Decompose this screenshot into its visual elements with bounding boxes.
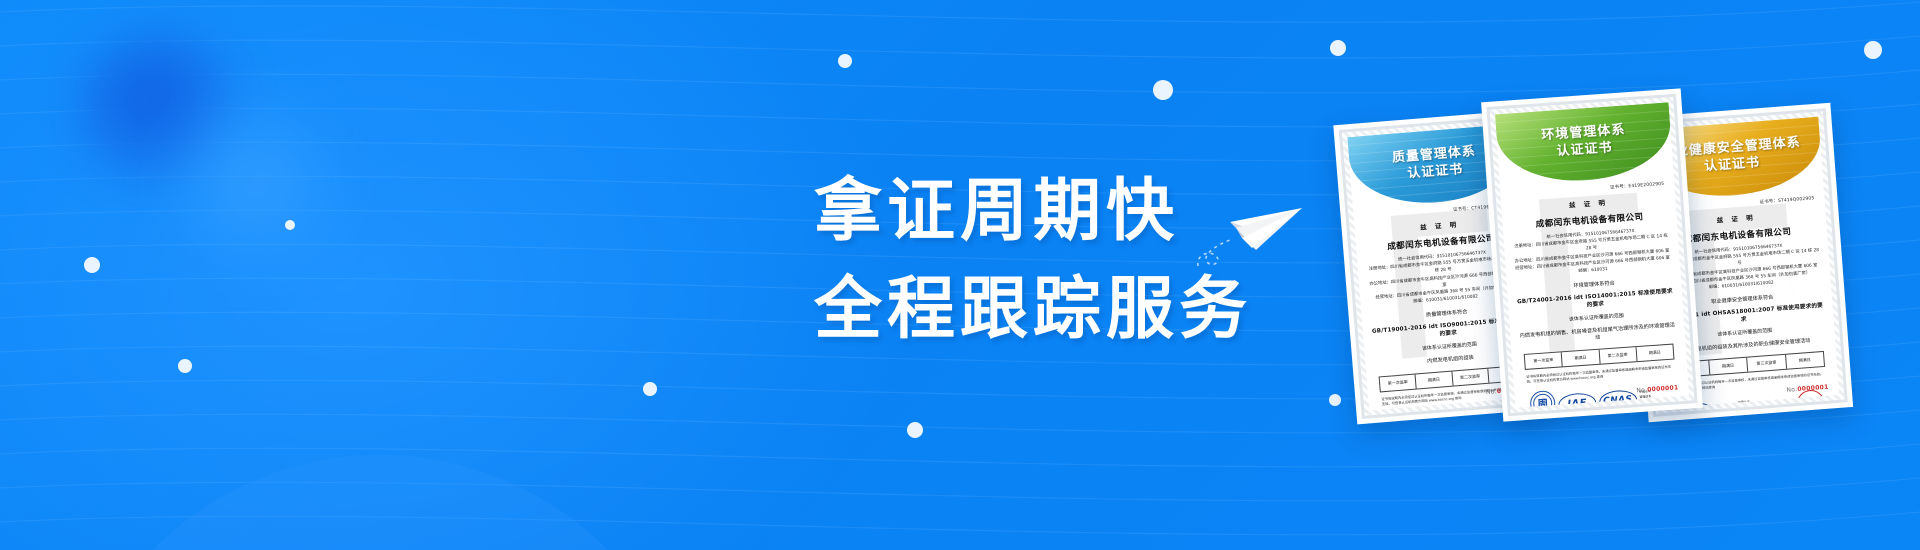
china-certification-seal-icon: 周中国认证认可 <box>1529 390 1556 408</box>
audit-cell: 期满日 <box>1636 345 1673 361</box>
decor-dot <box>838 54 852 68</box>
audit-cell: 第一次监审 <box>1525 353 1563 370</box>
decor-dot <box>84 257 100 273</box>
decor-dot <box>1330 40 1346 56</box>
certificate-number: 证书号：E419E2002905 <box>1610 181 1665 191</box>
serial-prefix: No. <box>1786 386 1797 394</box>
certificate-group: 质量管理体系认证证书证书号：CT419628012906兹 证 明成都闰东电机设… <box>1345 95 1920 475</box>
headline-line-1: 拿证周期快 <box>814 163 1252 261</box>
certificate-ribbon: 环境管理体系认证证书 <box>1495 102 1674 186</box>
decor-dot <box>643 382 657 396</box>
decor-dot <box>1329 394 1341 406</box>
scope-text: 内燃发电机组的销售、机房噪音及机组尾气治理所涉及的环境管理活动 <box>1519 322 1676 347</box>
audit-cell: 第一次监审 <box>1380 375 1417 392</box>
glow-blob-light <box>150 92 360 272</box>
audit-cell: 期满日 <box>1562 350 1600 367</box>
certificate-number: 证书号：ST419Q002905 <box>1759 195 1814 205</box>
headline-line-2: 全程跟踪服务 <box>814 261 1252 359</box>
decor-dot <box>907 422 923 438</box>
decor-dot <box>1153 80 1173 100</box>
decor-dot <box>1864 41 1882 59</box>
decor-circle-large <box>60 455 700 550</box>
promo-banner: 拿证周期快 全程跟踪服务 质量管理体系认证证书证书号：CT41962801290… <box>0 0 1920 550</box>
certificate-body: 兹 证 明成都闰东电机设备有限公司统一社会信用代码：91510106756646… <box>1510 193 1682 408</box>
headline: 拿证周期快 全程跟踪服务 <box>814 163 1252 359</box>
serial-prefix: No. <box>1486 388 1497 396</box>
certificate-page: 环境管理体系认证证书证书号：E419E2002905兹 证 明成都闰东电机设备有… <box>1495 102 1689 407</box>
paper-plane-icon <box>1196 188 1308 276</box>
decor-dot <box>178 359 192 373</box>
audit-cell: 第二次监审 <box>1452 369 1489 386</box>
audit-cell: 期满日 <box>1709 358 1748 375</box>
certificate-environment-management-certificate[interactable]: 环境管理体系认证证书证书号：E419E2002905兹 证 明成都闰东电机设备有… <box>1481 88 1703 421</box>
audit-cell: 期满日 <box>1416 372 1453 389</box>
serial-prefix: No. <box>1636 386 1647 394</box>
seal-ring: 周 <box>1529 390 1556 408</box>
audit-cell: 期满日 <box>1786 352 1824 369</box>
audit-cell: 第二次监审 <box>1599 347 1637 364</box>
audit-cell: 第三次监审 <box>1747 355 1786 372</box>
